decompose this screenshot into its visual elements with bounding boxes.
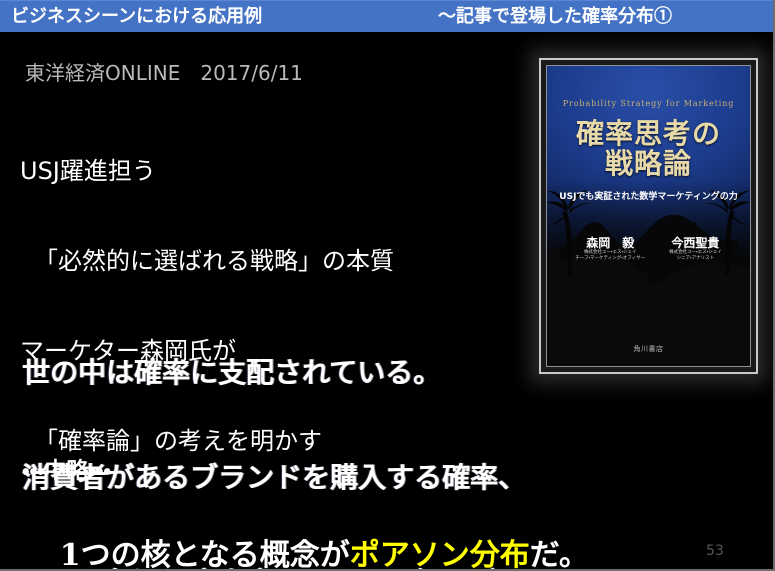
headline-line-1: USJ躍進担う <box>20 156 394 186</box>
slide-header-title: ビジネスシーンにおける応用例 <box>11 3 262 30</box>
slide-header-band: ビジネスシーンにおける応用例 ～記事で登場した確率分布① <box>0 0 775 32</box>
book-cover-eyebrow: Probability Strategy for Marketing <box>547 99 750 108</box>
book-author-1: 森岡 毅 株式会社ユー・エス・ジェイ チーフ・マーケティング・オフィサー <box>575 236 645 262</box>
article-conclusion-line: 1つの核となる概念がポアソン分布だ。 <box>18 499 589 571</box>
book-cover-title: 確率思考の 戦略論 <box>547 119 750 179</box>
book-title-line-1: 確率思考の <box>576 117 721 150</box>
slide-page-number: 53 <box>706 542 724 560</box>
slide-canvas: ビジネスシーンにおける応用例 ～記事で登場した確率分布① 東洋経済ONLINE … <box>0 0 775 571</box>
author-name: 今西聖貴 <box>669 236 722 250</box>
palm-tree-icon-right <box>706 190 751 276</box>
author-name: 森岡 毅 <box>575 236 645 250</box>
book-author-2: 今西聖貴 株式会社ユー・エス・ジェイ シニア・アナリスト <box>669 236 722 262</box>
palm-tree-icon-left <box>546 190 591 276</box>
author-affiliation-line-2: チーフ・マーケティング・オフィサー <box>575 256 645 262</box>
author-affiliation-line-1: 株式会社ユー・エス・ジェイ <box>575 250 645 256</box>
author-affiliation-line-1: 株式会社ユー・エス・ジェイ <box>669 250 722 256</box>
book-cover-publisher: 角川書店 <box>547 344 750 354</box>
book-title-line-2: 戦略論 <box>547 149 750 179</box>
author-affiliation-line-2: シニア・アナリスト <box>669 256 722 262</box>
slide-header-subtitle: ～記事で登場した確率分布① <box>438 3 672 30</box>
book-cover-art: Probability Strategy for Marketing 確率思考の… <box>546 65 751 367</box>
conclusion-prefix: 1つの核となる概念が <box>60 538 350 571</box>
headline-line-2: 「必然的に選ばれる戦略」の本質 <box>20 246 394 276</box>
conclusion-suffix: だ。 <box>530 538 589 571</box>
book-cover-subtitle: USJでも実証された数学マーケティングの力 <box>547 189 750 202</box>
book-cover-authors: 森岡 毅 株式会社ユー・エス・ジェイ チーフ・マーケティング・オフィサー 今西聖… <box>547 236 750 262</box>
conclusion-highlight-poisson: ポアソン分布 <box>350 538 530 571</box>
article-source-line: 東洋経済ONLINE 2017/6/11 <box>25 60 303 86</box>
article-omission-marker: ・・・中略・・・ <box>22 457 111 485</box>
book-cover-image: Probability Strategy for Marketing 確率思考の… <box>539 58 758 374</box>
book-cover-frame: Probability Strategy for Marketing 確率思考の… <box>539 58 758 374</box>
quote-line-1: 世の中は確率に支配されている。 <box>22 355 526 390</box>
